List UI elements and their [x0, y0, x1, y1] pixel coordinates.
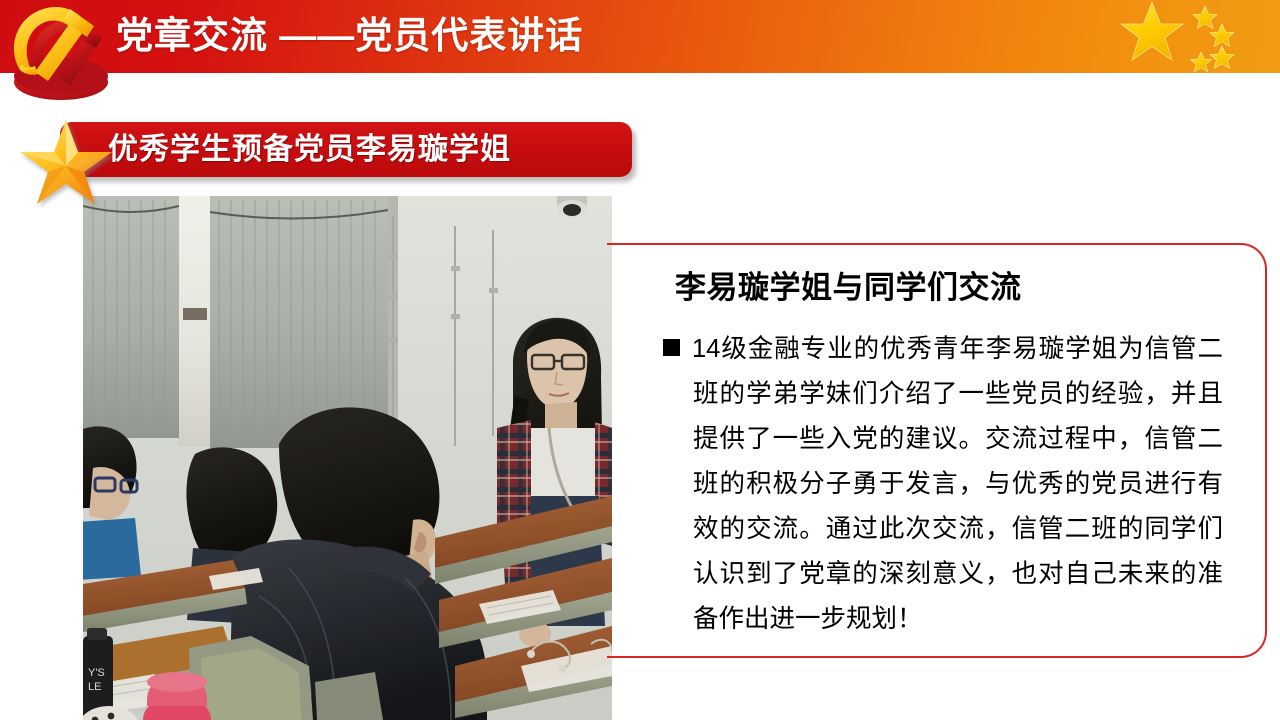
subtitle-label: 优秀学生预备党员李易璇学姐 — [108, 130, 511, 170]
panel-title: 李易璇学姐与同学们交流 — [675, 262, 1022, 307]
party-hammer-sickle-emblem-icon — [2, 0, 120, 106]
page-title: 党章交流 ——党员代表讲话 — [116, 12, 583, 60]
panel-body-text: 14级金融专业的优秀青年李易璇学姐为信管二班的学弟学妹们介绍了一些党员的经验，并… — [692, 335, 1223, 633]
slide: 党章交流 ——党员代表讲话 — [0, 0, 1280, 720]
panel-body: 14级金融专业的优秀青年李易璇学姐为信管二班的学弟学妹们介绍了一些党员的经验，并… — [663, 327, 1223, 642]
classroom-photo: Y'S LE — [83, 196, 612, 720]
gold-five-point-star-icon — [18, 116, 114, 208]
subtitle-banner: 优秀学生预备党员李易璇学姐 — [0, 112, 660, 192]
square-bullet-icon — [663, 339, 680, 356]
china-flag-stars-icon — [1112, 0, 1272, 73]
content-panel: 李易璇学姐与同学们交流 14级金融专业的优秀青年李易璇学姐为信管二班的学弟学妹们… — [607, 243, 1267, 658]
